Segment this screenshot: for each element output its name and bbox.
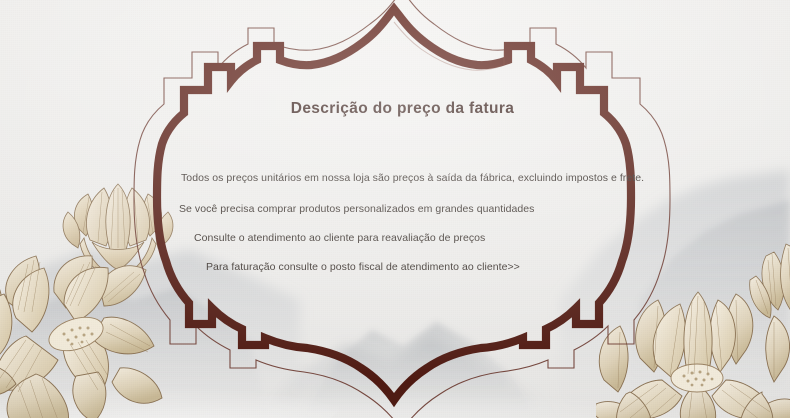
page-title: Descrição do preço da fatura: [150, 100, 655, 118]
body-line-link[interactable]: Para faturação consulte o posto fiscal d…: [206, 261, 520, 273]
panel-text-block: Descrição do preço da fatura Todos os pr…: [150, 0, 655, 418]
lotus-petal-icon: [748, 236, 790, 320]
body-line: Se você precisa comprar produtos persona…: [179, 203, 534, 215]
body-line: Todos os preços unitários em nossa loja …: [181, 172, 644, 184]
banner-canvas: Descrição do preço da fatura Todos os pr…: [0, 0, 790, 418]
body-line: Consulte o atendimento ao cliente para r…: [194, 232, 485, 244]
